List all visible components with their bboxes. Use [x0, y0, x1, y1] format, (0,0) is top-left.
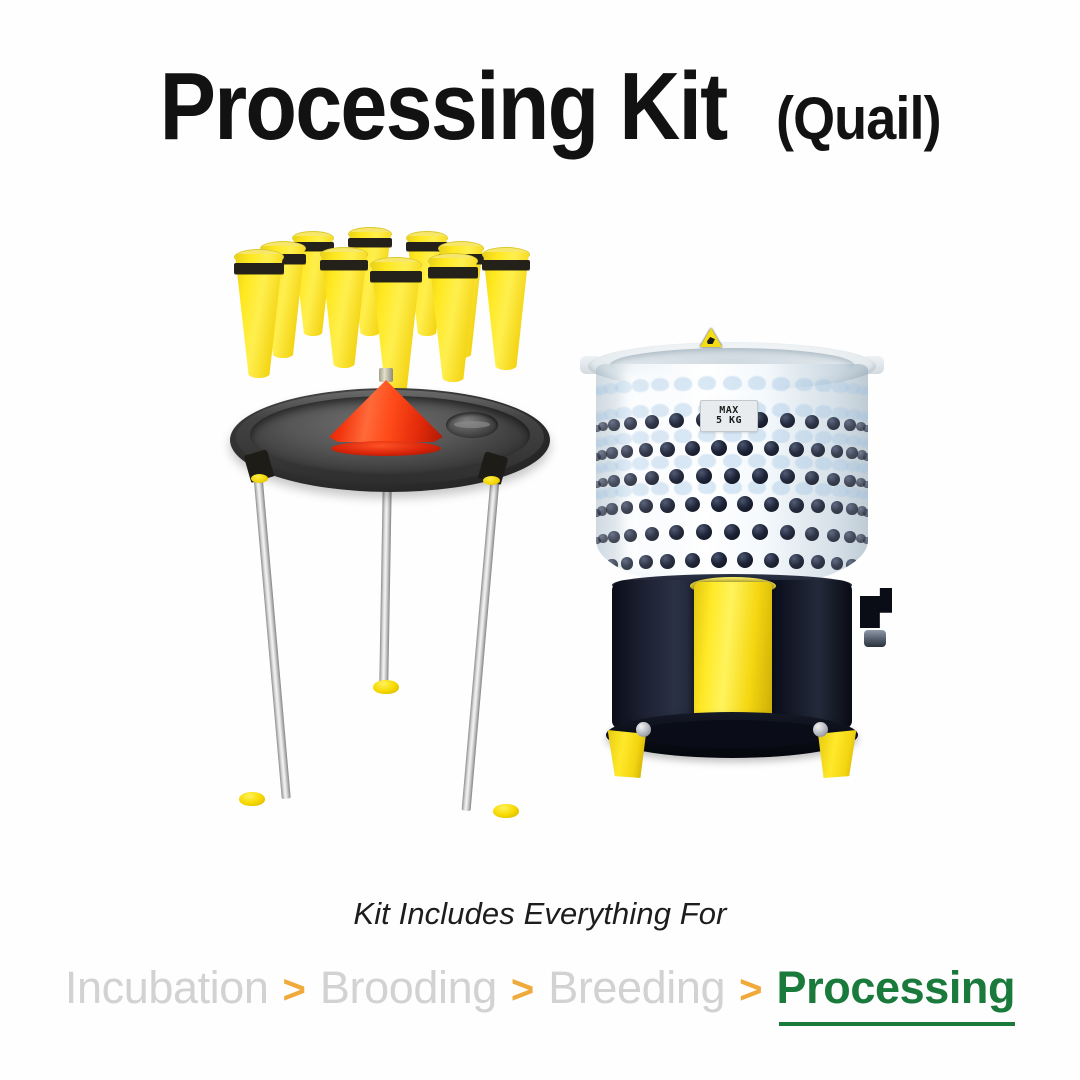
stand-leg-center — [379, 470, 392, 688]
breadcrumb-stage-brooding[interactable]: Brooding — [320, 962, 497, 1014]
stand-foot-right — [493, 804, 519, 818]
base-bolt-left — [636, 722, 651, 737]
product-photo-stage: MAX 5 KG — [0, 200, 1080, 860]
plucker-motor-base — [606, 580, 858, 770]
title-main-text: Processing Kit — [160, 52, 727, 162]
title-species-text: (Quail) — [776, 84, 941, 153]
drum-wall — [596, 364, 868, 590]
base-foot-right — [818, 730, 858, 778]
breadcrumb-separator-icon: > — [511, 968, 534, 1013]
stand-leg-collar-right — [483, 476, 500, 485]
active-stage-underline — [779, 1022, 1016, 1026]
center-funnel — [329, 378, 443, 452]
lifecycle-breadcrumb: Incubation > Brooding > Breeding > Proce… — [0, 962, 1080, 1024]
pinch-hazard-warning-icon — [700, 328, 722, 347]
feather-plucker-product: MAX 5 KG — [578, 342, 888, 842]
breadcrumb-separator-icon: > — [283, 968, 306, 1013]
page-title: Processing Kit(Quail) — [0, 52, 1080, 162]
stand-leg-left — [253, 470, 291, 800]
breadcrumb-stage-incubation[interactable]: Incubation — [65, 962, 269, 1014]
stand-foot-left — [239, 792, 265, 806]
funnel-neck — [379, 368, 393, 382]
plucker-drum: MAX 5 KG — [596, 342, 868, 600]
breadcrumb-separator-icon: > — [739, 968, 762, 1013]
breadcrumb-stage-breeding[interactable]: Breeding — [548, 962, 725, 1014]
funnel-cone-body — [329, 380, 443, 442]
stand-foot-center — [373, 680, 399, 694]
plucking-fingers-grid — [596, 364, 868, 590]
breadcrumb-stage-processing-label: Processing — [777, 962, 1016, 1013]
stand-leg-collar-left — [251, 474, 268, 483]
base-ring-inner — [632, 720, 832, 748]
side-adjustment-knob[interactable] — [864, 630, 886, 647]
base-foot-left — [606, 730, 646, 778]
stand-leg-right — [462, 474, 500, 811]
product-image-canvas: Processing Kit(Quail) — [0, 0, 1080, 1080]
killing-cone-stand-product — [225, 230, 555, 850]
base-bolt-right — [813, 722, 828, 737]
max-label-line2: 5 KG — [716, 416, 742, 427]
max-capacity-label: MAX 5 KG — [700, 400, 758, 432]
breadcrumb-stage-processing[interactable]: Processing — [777, 962, 1016, 1024]
funnel-base-ring — [331, 441, 441, 456]
kit-tagline: Kit Includes Everything For — [0, 896, 1080, 932]
tray-drain-hole — [446, 412, 498, 438]
